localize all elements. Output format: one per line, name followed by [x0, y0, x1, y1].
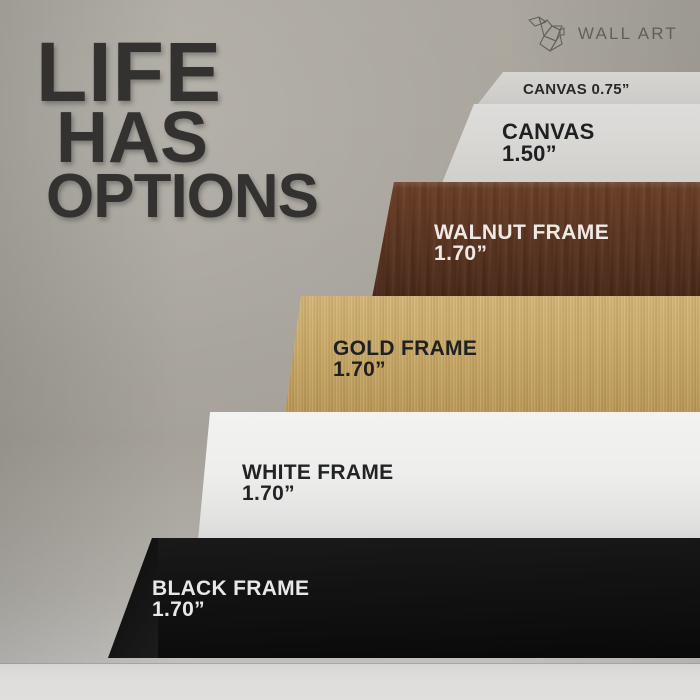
- headline-line-3: OPTIONS: [46, 170, 396, 223]
- option-panel-white-frame[interactable]: WHITE FRAME 1.70”: [198, 412, 700, 540]
- option-panel-walnut-frame[interactable]: WALNUT FRAME 1.70”: [372, 182, 700, 298]
- background-floor: [0, 664, 700, 700]
- brand-logo: WALL ART: [526, 14, 678, 54]
- option-panel-gold-frame[interactable]: GOLD FRAME 1.70”: [285, 296, 700, 414]
- headline-line-2: HAS: [56, 108, 396, 170]
- headline: LIFE HAS OPTIONS: [36, 36, 396, 223]
- option-label-canvas-150: CANVAS 1.50”: [502, 121, 594, 166]
- option-label-walnut-frame: WALNUT FRAME 1.70”: [434, 222, 609, 265]
- product-options-poster: LIFE HAS OPTIONS WALL ART CANVAS 0.75” C…: [0, 0, 700, 700]
- option-label-black-frame: BLACK FRAME 1.70”: [152, 578, 309, 621]
- option-panel-canvas-150[interactable]: CANVAS 1.50”: [440, 104, 700, 188]
- option-panel-black-frame[interactable]: BLACK FRAME 1.70”: [108, 538, 700, 658]
- option-label-canvas-075: CANVAS 0.75”: [523, 82, 630, 97]
- brand-wordmark: WALL ART: [578, 24, 678, 44]
- origami-goat-icon: [526, 14, 570, 54]
- option-label-gold-frame: GOLD FRAME 1.70”: [333, 338, 477, 381]
- option-label-white-frame: WHITE FRAME 1.70”: [242, 462, 393, 505]
